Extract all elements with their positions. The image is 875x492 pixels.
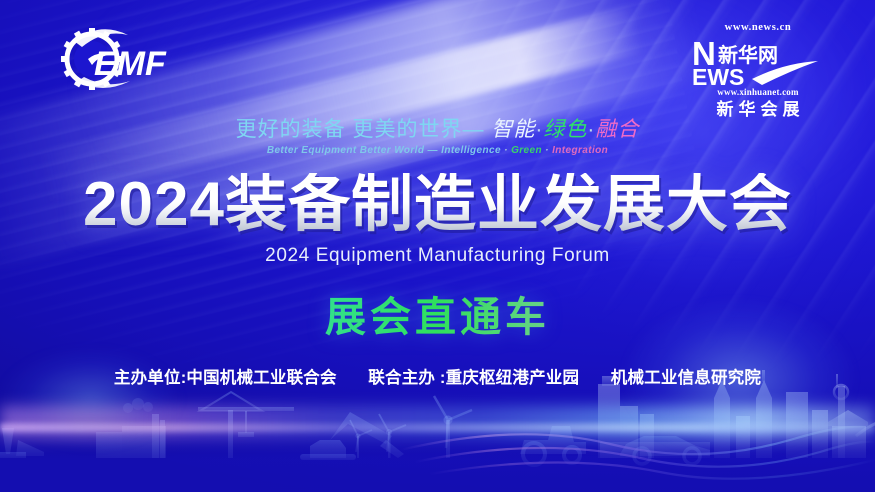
emf-logo-text: EMF <box>94 45 167 83</box>
organizers-line: 主办单位:中国机械工业联合会 联合主办 :重庆枢纽港产业园 机械工业信息研究院 <box>0 364 875 388</box>
svg-text:EWS: EWS <box>692 64 744 87</box>
tagline-en-dot-1: · <box>504 145 508 156</box>
tagline-en-part1: Better Equipment Better World — <box>267 145 438 156</box>
emf-logo: EMF <box>58 25 178 93</box>
express-label: 展会直通车 <box>0 283 875 343</box>
xinhua-news-mark: N EWS 新华网 <box>692 35 824 87</box>
organizer-cohost: 联合主办 :重庆枢纽港产业园 <box>368 369 579 387</box>
svg-text:新华网: 新华网 <box>718 43 778 67</box>
tagline-en: Better Equipment Better World — Intellig… <box>0 145 875 156</box>
banner-content: 更好的装备 更美的世界— 智能·绿色·融合 Better Equipment B… <box>0 118 875 388</box>
xinhua-logo: www.news.cn N EWS 新华网 www.xinhuanet.com … <box>683 22 833 120</box>
tagline-cn-green: 绿色 <box>543 118 587 141</box>
tagline-en-integration: Integration <box>552 145 608 156</box>
tagline-en-dot-2: · <box>545 145 549 156</box>
conference-banner: EMF www.news.cn N EWS 新华网 www.xinhuanet.… <box>0 0 875 492</box>
tagline-cn: 更好的装备 更美的世界— 智能·绿色·融合 <box>0 118 875 142</box>
tagline-cn-intelligence: 智能 <box>491 118 535 141</box>
tagline-en-green: Green <box>511 145 542 156</box>
tagline-en-intelligence: Intelligence <box>441 145 501 156</box>
organizer-cohost-second: 机械工业信息研究院 <box>611 369 761 387</box>
page-title: 2024装备制造业发展大会 <box>0 173 875 236</box>
xinhua-url-bottom: www.xinhuanet.com <box>683 88 833 98</box>
tagline-cn-integration: 融合 <box>595 118 639 141</box>
page-subtitle-en: 2024 Equipment Manufacturing Forum <box>0 245 875 267</box>
organizer-host: 主办单位:中国机械工业联合会 <box>114 369 337 387</box>
xinhua-url-top: www.news.cn <box>683 22 833 34</box>
tagline-cn-part1: 更好的装备 更美的世界— <box>236 118 485 141</box>
